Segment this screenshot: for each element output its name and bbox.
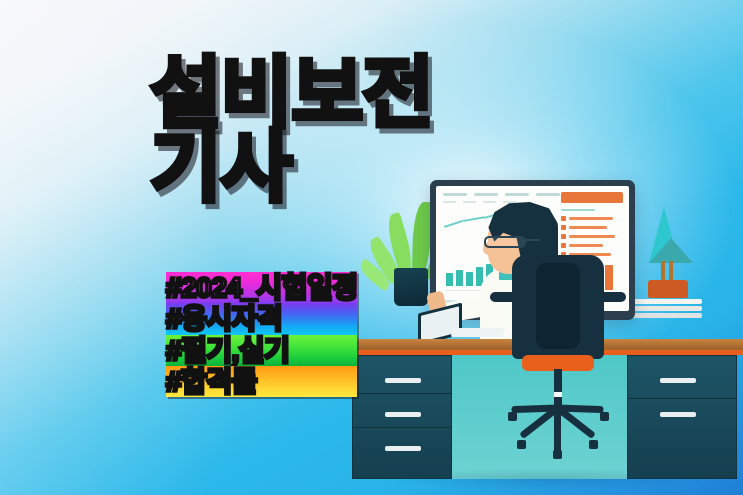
chair-post-highlight xyxy=(554,392,562,397)
drawer-handle xyxy=(385,412,421,417)
hashtag-list: #2024_시험일정 #응시자격 #필기,실기 #합격률 xyxy=(166,272,357,397)
chair-caster xyxy=(589,440,598,449)
panel-header-bar xyxy=(561,192,623,203)
dashboard-top-tabs xyxy=(443,193,560,196)
book-stack xyxy=(632,299,702,320)
drawer-divider xyxy=(628,398,736,399)
drawer-handle xyxy=(660,378,696,383)
chair-backrest xyxy=(512,255,604,359)
panel-list-item xyxy=(561,243,623,248)
panel-list-item xyxy=(561,216,623,221)
title-line-1: 설비보전 xyxy=(150,56,433,130)
glasses-icon xyxy=(484,236,526,248)
drawer-divider xyxy=(353,393,451,394)
drawer-handle xyxy=(385,446,421,451)
dashboard-right-panel xyxy=(561,192,623,261)
lamp-shade-bottom xyxy=(649,238,693,263)
hashtag-item: #필기,실기 xyxy=(166,335,357,366)
title-block: 설비보전 기사 xyxy=(150,56,433,204)
chair-caster xyxy=(553,450,562,459)
thumbnail-canvas: 설비보전 기사 #2024_시험일정 #응시자격 #필기,실기 #합격률 xyxy=(0,0,743,495)
glasses-temple xyxy=(522,239,540,241)
chair-caster xyxy=(517,440,526,449)
chair-caster xyxy=(600,412,609,421)
title-line-2: 기사 xyxy=(150,130,433,204)
dashboard-sub-labels xyxy=(443,201,516,203)
drawer-divider xyxy=(353,427,451,428)
book xyxy=(632,299,702,304)
panel-list-item xyxy=(561,234,623,239)
book xyxy=(632,306,702,311)
book xyxy=(632,313,702,318)
chair-caster xyxy=(508,412,517,421)
floor-shadow xyxy=(372,468,722,490)
drawer-handle xyxy=(385,378,421,383)
panel-list-item xyxy=(561,225,623,230)
lamp-base xyxy=(648,280,688,298)
hashtag-item: #합격률 xyxy=(166,366,357,397)
drawer-handle xyxy=(660,412,696,417)
desk-cabinet-right xyxy=(627,355,737,479)
hashtag-item: #응시자격 xyxy=(166,303,357,334)
keyboard xyxy=(451,328,506,337)
hashtag-item: #2024_시험일정 xyxy=(166,272,357,303)
desk-cabinet-left xyxy=(352,355,452,479)
panel-subtitle xyxy=(561,209,595,211)
plant-pot xyxy=(394,268,428,306)
